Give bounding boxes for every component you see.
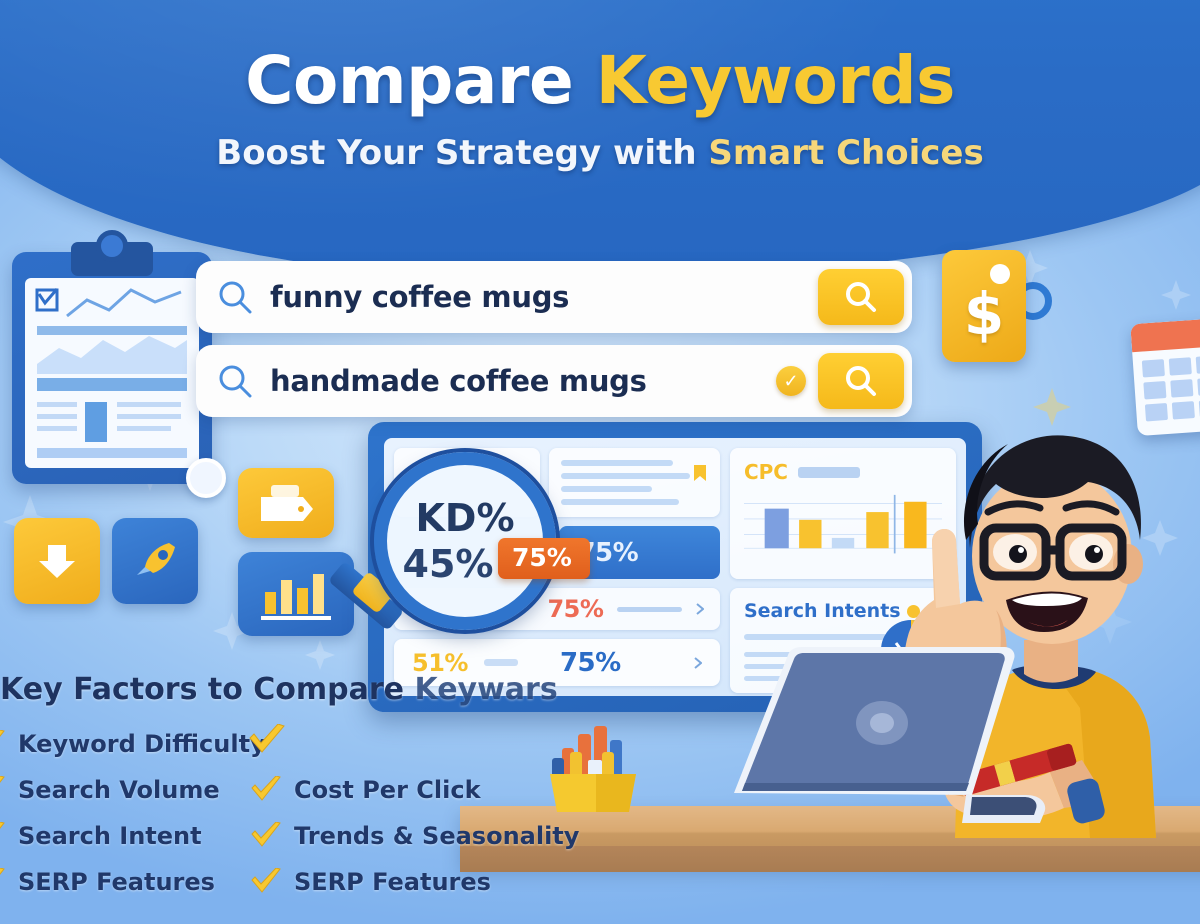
subtitle-lead: Boost Your Strategy with bbox=[216, 133, 708, 173]
list-item[interactable]: Cost Per Click bbox=[250, 767, 526, 813]
search-icon bbox=[844, 280, 878, 314]
check-icon bbox=[0, 776, 6, 804]
check-icon bbox=[250, 776, 282, 804]
list-item-label: Search Intent bbox=[18, 822, 202, 850]
download-icon[interactable] bbox=[14, 518, 100, 604]
checklist-title: Key Factors to Compare Keywars bbox=[0, 672, 574, 707]
calendar-cell bbox=[1168, 357, 1191, 375]
list-item-label: Cost Per Click bbox=[294, 776, 481, 804]
rocket-icon[interactable] bbox=[112, 518, 198, 604]
list-item[interactable]: SERP Features bbox=[0, 859, 250, 905]
checklist: Key Factors to Compare Keywars Keyword D… bbox=[0, 672, 574, 905]
tag-hole bbox=[990, 264, 1010, 284]
calendar-cell bbox=[1170, 379, 1193, 397]
download-arrow-glyph bbox=[34, 538, 80, 584]
search-icon bbox=[218, 364, 252, 398]
list-item-label: Keyword Difficulty bbox=[18, 730, 266, 758]
search-submit-button[interactable] bbox=[818, 269, 904, 325]
tag-glyph bbox=[255, 481, 317, 525]
bookmark-icon bbox=[692, 464, 708, 482]
decorative-check-icon bbox=[248, 724, 286, 756]
check-icon bbox=[250, 868, 282, 896]
checklist-columns: Keyword Difficulty Search Volume Search … bbox=[0, 721, 574, 905]
check-icon bbox=[250, 822, 282, 850]
list-item[interactable]: SERP Features bbox=[250, 859, 526, 905]
kd-metric-value: 45% bbox=[403, 545, 494, 583]
search-bar-secondary[interactable]: handmade coffee mugs ✓ bbox=[196, 345, 912, 417]
title-word-compare: Compare bbox=[245, 42, 596, 119]
list-item-label: SERP Features bbox=[294, 868, 491, 896]
chevron-right-icon bbox=[694, 657, 702, 669]
subtitle-highlight: Smart Choices bbox=[708, 133, 983, 173]
highlight-badge: 75% bbox=[498, 538, 590, 579]
page-subtitle: Boost Your Strategy with Smart Choices bbox=[0, 133, 1200, 173]
rocket-glyph bbox=[129, 535, 181, 587]
calendar-cell bbox=[1195, 355, 1200, 373]
laptop-icon bbox=[726, 645, 1056, 835]
title-word-keywords: Keywords bbox=[596, 42, 955, 119]
clipboard-paper bbox=[25, 278, 199, 468]
list-item-label: Search Volume bbox=[18, 776, 220, 804]
check-circle-icon: ✓ bbox=[776, 366, 806, 396]
page-title: Compare Keywords bbox=[0, 42, 1200, 119]
search-input[interactable]: handmade coffee mugs bbox=[270, 364, 776, 398]
clipboard-badge bbox=[186, 458, 226, 498]
clipboard-icon bbox=[12, 252, 212, 484]
dollar-symbol: $ bbox=[964, 280, 1004, 348]
kd-metric-label: KD% bbox=[415, 499, 514, 537]
chevron-right-icon bbox=[696, 603, 704, 615]
tag-icon[interactable] bbox=[238, 468, 334, 538]
check-icon bbox=[0, 868, 6, 896]
poster-canvas: Compare Keywords Boost Your Strategy wit… bbox=[0, 0, 1200, 924]
calendar-cell bbox=[1143, 381, 1166, 399]
check-icon bbox=[0, 730, 6, 758]
calendar-cell bbox=[1142, 359, 1165, 377]
dollar-tag-icon: $ bbox=[942, 250, 1026, 362]
list-item[interactable]: Keyword Difficulty bbox=[0, 721, 250, 767]
search-submit-button[interactable] bbox=[818, 353, 904, 409]
list-item-label: Trends & Seasonality bbox=[294, 822, 579, 850]
check-icon bbox=[0, 822, 6, 850]
list-item[interactable]: Search Volume bbox=[0, 767, 250, 813]
bar-chart-glyph bbox=[255, 566, 337, 622]
search-input[interactable]: funny coffee mugs bbox=[270, 280, 818, 314]
clipboard-clip bbox=[71, 242, 153, 276]
clipboard-chart-graphic bbox=[25, 278, 199, 468]
header: Compare Keywords Boost Your Strategy wit… bbox=[0, 42, 1200, 173]
search-icon bbox=[218, 280, 252, 314]
cpc-label: CPC bbox=[744, 460, 788, 484]
checklist-column-left: Keyword Difficulty Search Volume Search … bbox=[0, 721, 250, 905]
search-bar-primary[interactable]: funny coffee mugs bbox=[196, 261, 912, 333]
summary-card[interactable] bbox=[549, 448, 719, 517]
checklist-title-faded: Keywars bbox=[414, 672, 557, 707]
checklist-title-main: Key Factors to Compare bbox=[0, 672, 414, 707]
checklist-column-right: Cost Per Click Trends & Seasonality SERP… bbox=[250, 721, 526, 905]
bar-chart-icon[interactable] bbox=[238, 552, 354, 636]
search-icon bbox=[844, 364, 878, 398]
list-item-label: SERP Features bbox=[18, 868, 215, 896]
list-item[interactable]: Search Intent bbox=[0, 813, 250, 859]
list-item[interactable]: Trends & Seasonality bbox=[250, 813, 526, 859]
